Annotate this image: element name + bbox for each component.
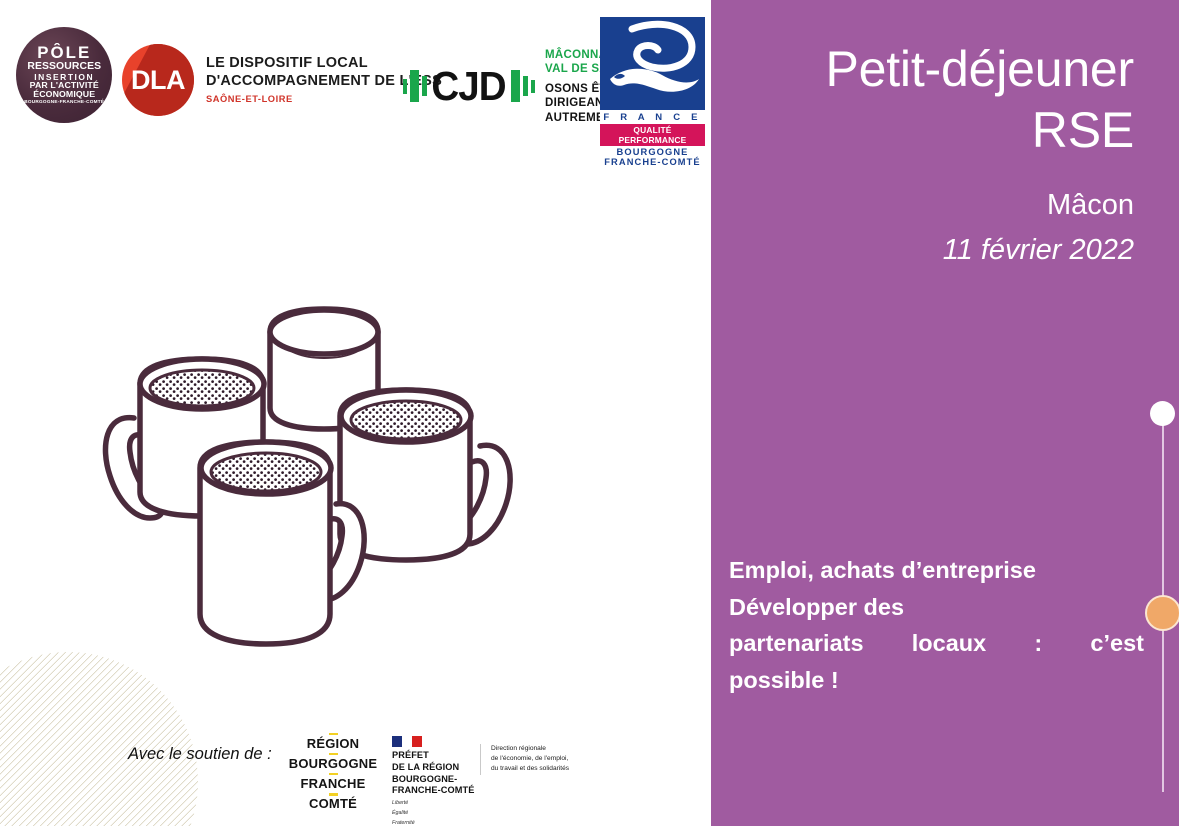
cjd-bar-icon [422, 76, 427, 96]
fqp-region-line-1: BOURGOGNE [600, 147, 705, 157]
timeline-dot-white [1150, 401, 1175, 426]
poster-canvas: PÔLE RESSOURCES INSERTION PAR L'ACTIVITÉ… [0, 0, 1179, 826]
fqp-qualite-badge: QUALITÉ PERFORMANCE [600, 124, 705, 146]
event-city: Mâcon [711, 188, 1134, 223]
fqp-bird-swirl-icon [600, 17, 705, 110]
pole-line-5: ÉCONOMIQUE [24, 90, 104, 99]
prefet-line-4: FRANCHE-COMTÉ [392, 785, 484, 797]
cjd-bar-icon [410, 70, 419, 102]
logo-prefet-region: PRÉFET DE LA RÉGION BOURGOGNE- FRANCHE-C… [392, 736, 484, 826]
four-mugs-icon [78, 296, 534, 676]
region-dash-icon [329, 753, 338, 756]
cjd-bar-icon [531, 80, 535, 93]
logo-direction-regionale: Direction régionale de l'économie, de l'… [480, 744, 569, 775]
drieets-line-2: de l'économie, de l'emploi, [491, 754, 569, 764]
cjd-bar-icon [511, 70, 520, 102]
logo-pole-ressources: PÔLE RESSOURCES INSERTION PAR L'ACTIVITÉ… [16, 27, 112, 123]
drieets-line-3: du travail et des solidarités [491, 764, 569, 774]
region-line-4: COMTÉ [283, 797, 383, 812]
pole-line-1: PÔLE [24, 45, 104, 62]
region-dash-icon [329, 733, 338, 736]
drieets-line-1: Direction régionale [491, 744, 569, 754]
partner-logos-strip: PÔLE RESSOURCES INSERTION PAR L'ACTIVITÉ… [0, 0, 711, 160]
left-content-area: PÔLE RESSOURCES INSERTION PAR L'ACTIVITÉ… [0, 0, 711, 826]
region-line-3: FRANCHE [283, 777, 383, 792]
cjd-letters-label: CJD [431, 68, 505, 105]
subject-line-4: possible ! [729, 662, 1144, 699]
fqp-caption: F R A N C E QUALITÉ PERFORMANCE BOURGOGN… [600, 110, 705, 167]
fqp-region-line-2: FRANCHE-COMTÉ [600, 157, 705, 167]
event-title-block: Petit-déjeuner RSE Mâcon 11 février 2022 [711, 40, 1134, 268]
fqp-blue-square [600, 17, 705, 110]
devise-line-3: Fraternité [392, 820, 484, 826]
prefet-line-3: BOURGOGNE- [392, 774, 484, 786]
cjd-bar-icon [403, 79, 407, 94]
logo-region-bourgogne-franche-comte: RÉGION BOURGOGNE FRANCHE COMTÉ [283, 731, 383, 812]
region-line-2: BOURGOGNE [283, 757, 383, 772]
cjd-mark: CJD [401, 63, 536, 109]
dla-circle-mark: DLA [122, 44, 194, 116]
event-date: 11 février 2022 [711, 233, 1134, 268]
prefet-line-2: DE LA RÉGION [392, 762, 484, 774]
page-title-line-1: Petit-déjeuner [711, 40, 1134, 99]
cjd-bar-icon [523, 76, 528, 96]
region-line-1: RÉGION [283, 737, 383, 752]
page-title-line-2: RSE [711, 101, 1134, 160]
french-flag-icon [392, 736, 422, 747]
logo-france-qualite-performance: F R A N C E QUALITÉ PERFORMANCE BOURGOGN… [600, 17, 705, 148]
timeline-dot-orange [1145, 595, 1179, 631]
pole-line-6: BOURGOGNE-FRANCHE-COMTÉ [24, 100, 104, 105]
subject-line-2: Développer des [729, 589, 1144, 626]
fqp-france-label: F R A N C E [600, 112, 705, 123]
devise-line-1: Liberté [392, 800, 484, 807]
region-dash-icon [329, 773, 338, 776]
subject-line-3: partenariats locaux : c’est [729, 625, 1144, 662]
devise-line-2: Égalité [392, 810, 484, 817]
prefet-line-1: PRÉFET [392, 750, 484, 762]
dla-mark-label: DLA [131, 65, 185, 96]
purple-title-panel: Petit-déjeuner RSE Mâcon 11 février 2022… [711, 0, 1179, 826]
logo-dla: DLA LE DISPOSITIF LOCAL D'ACCOMPAGNEMENT… [122, 44, 442, 116]
coffee-mugs-illustration [78, 296, 534, 676]
support-label: Avec le soutien de : [128, 745, 272, 764]
subject-line-1: Emploi, achats d’entreprise [729, 552, 1144, 589]
event-subject-block: Emploi, achats d’entreprise Développer d… [729, 552, 1144, 699]
